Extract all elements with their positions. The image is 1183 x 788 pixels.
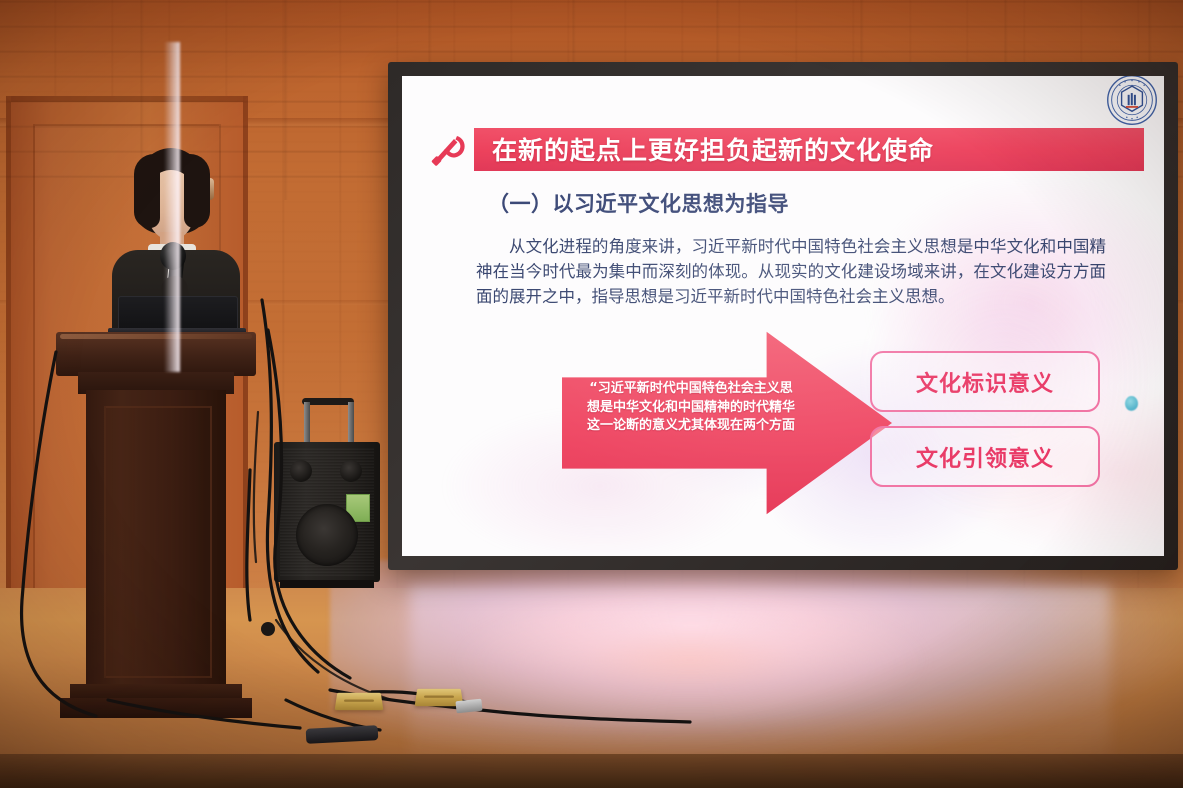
podium-top-highlight [60, 334, 252, 339]
presenter-hair-right [184, 154, 210, 228]
presentation-slide: 在新的起点上更好担负起新的文化使命 [402, 76, 1164, 556]
podium [56, 332, 256, 722]
speaker-woofer [296, 504, 358, 566]
speaker-handle-right [348, 402, 354, 446]
lecture-hall-scene: 在新的起点上更好担负起新的文化使命 [0, 0, 1183, 788]
projection-screen: 在新的起点上更好担负起新的文化使命 [402, 76, 1164, 556]
callout-label-2: 文化引领意义 [916, 441, 1054, 473]
floor-outlet-box-1 [335, 693, 384, 710]
podium-column [86, 390, 226, 690]
university-seal-icon [1106, 76, 1158, 126]
presenter-hair-left [134, 154, 160, 228]
portable-pa-speaker [274, 398, 380, 588]
podium-top [56, 332, 256, 376]
stage-front-edge [0, 754, 1183, 788]
callout-box-2: 文化引领意义 [870, 426, 1100, 487]
slide-body-paragraph: 从文化进程的角度来讲，习近平新时代中国特色社会主义思想是中华文化和中国精神在当今… [476, 234, 1106, 309]
slide-title: 在新的起点上更好担负起新的文化使命 [492, 131, 934, 167]
slide-title-row: 在新的起点上更好担负起新的文化使命 [428, 126, 1144, 172]
slide-title-banner: 在新的起点上更好担负起新的文化使命 [474, 128, 1144, 171]
teal-accent-dot [1125, 396, 1138, 411]
callout-box-1: 文化标识意义 [870, 351, 1100, 412]
podium-edge-light [164, 42, 180, 372]
speaker-base [280, 580, 374, 588]
hammer-sickle-icon [428, 129, 468, 169]
podium-front-panel [104, 406, 212, 678]
projection-screen-frame: 在新的起点上更好担负起新的文化使命 [388, 62, 1178, 570]
speaker-tweeter-left [290, 460, 312, 482]
slide-subheading: （一）以习近平文化思想为指导 [488, 188, 789, 218]
speaker-tweeter-right [340, 460, 362, 482]
callout-label-1: 文化标识意义 [916, 366, 1054, 398]
speaker-cabinet [274, 442, 380, 582]
speaker-handle-left [304, 402, 310, 446]
projector-light-hotspot [430, 600, 950, 750]
red-arrow-graphic: “习近平新时代中国特色社会主义思想是中华文化和中国精神的时代精华这一论断的意义尤… [562, 328, 892, 518]
arrow-quote-text: “习近平新时代中国特色社会主义思想是中华文化和中国精神的时代精华这一论断的意义尤… [586, 380, 796, 436]
podium-base-lower [60, 698, 252, 718]
